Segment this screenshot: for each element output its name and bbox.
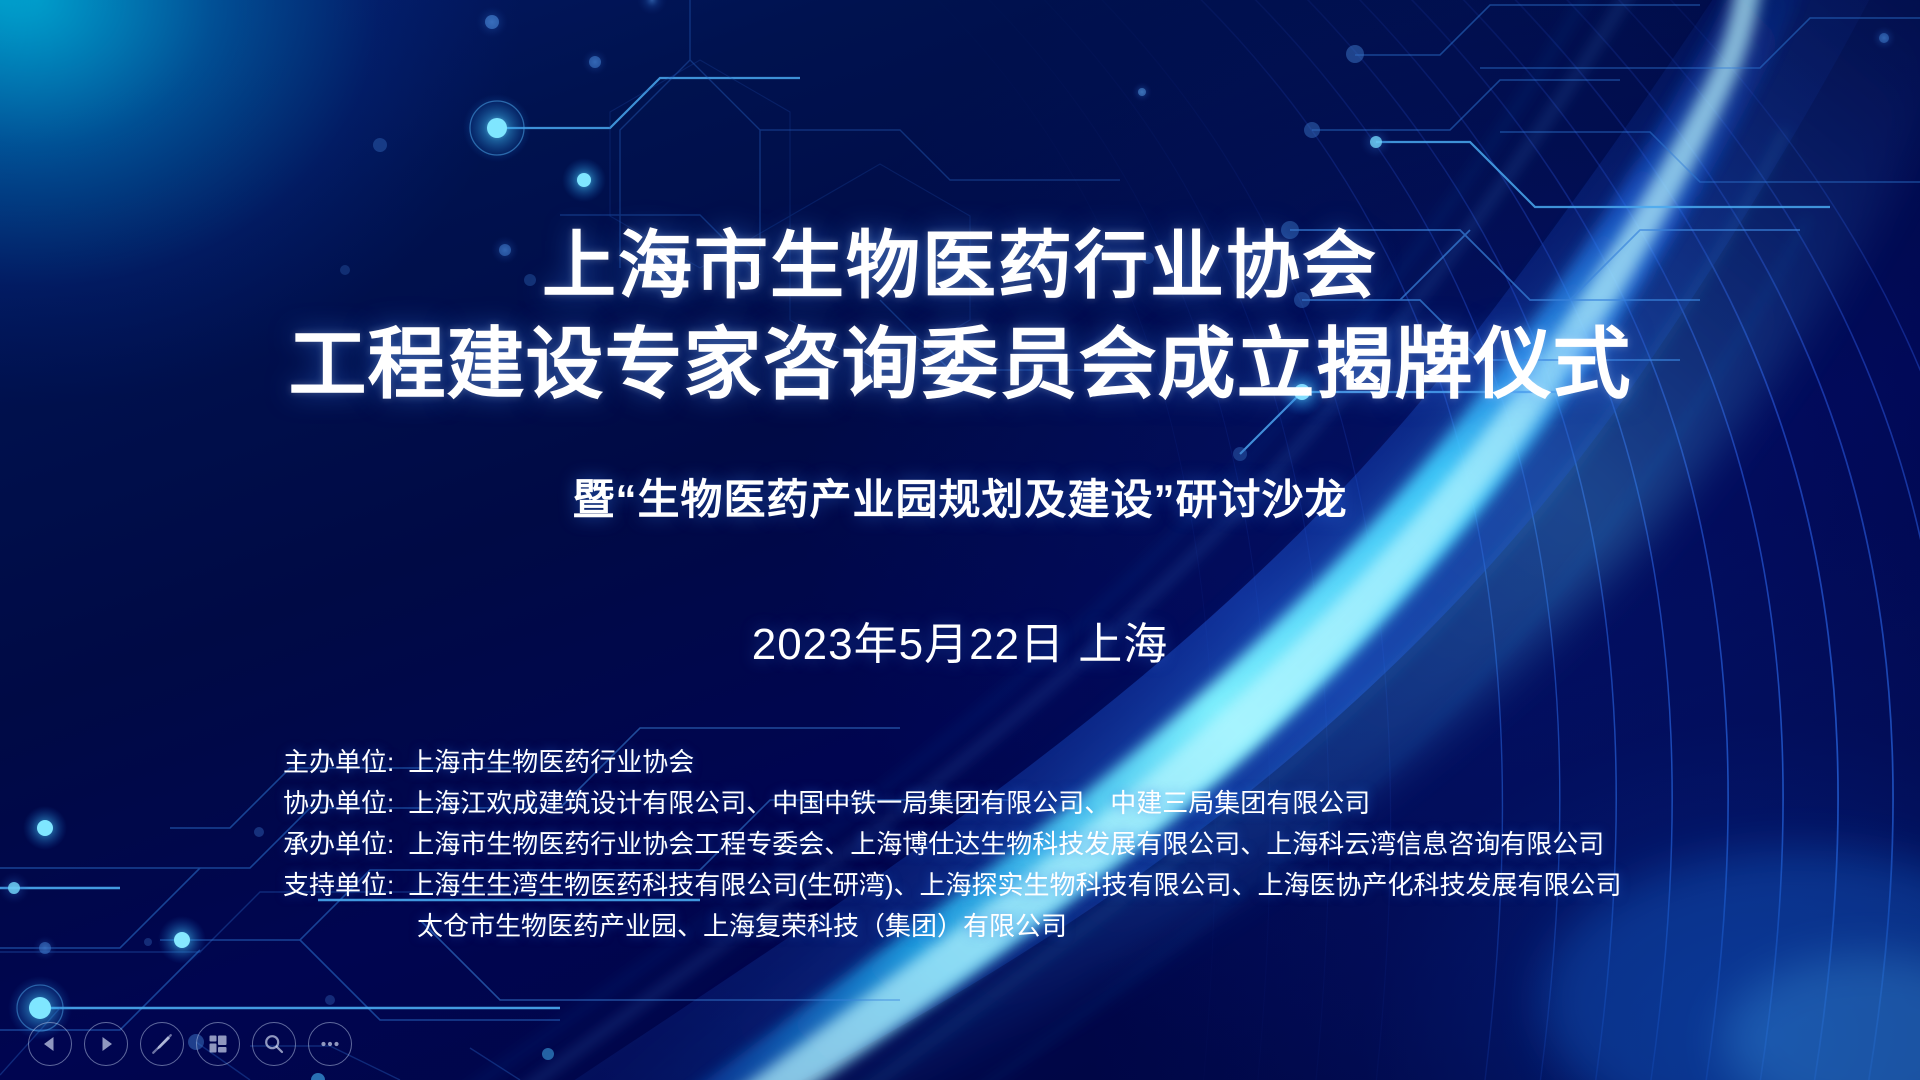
event-datetime-location: 2023年5月22日 上海: [0, 608, 1920, 672]
all-slides-button[interactable]: [196, 1022, 240, 1066]
slide-subtitle: 暨“生物医药产业园规划及建设”研讨沙龙: [0, 466, 1920, 527]
organizations-list: 主办单位:上海市生物医药行业协会 协办单位:上海江欢成建筑设计有限公司、中国中铁…: [283, 742, 1622, 947]
organization-value-host: 上海市生物医药行业协会: [408, 742, 694, 783]
organization-label-organizer: 承办单位:: [283, 824, 394, 865]
ellipsis-icon: [318, 1032, 342, 1056]
pen-icon: [150, 1032, 174, 1056]
organization-label-cohost: 协办单位:: [283, 783, 394, 824]
pen-tool-button[interactable]: [140, 1022, 184, 1066]
slide-title-block: 上海市生物医药行业协会 工程建设专家咨询委员会成立揭牌仪式: [0, 218, 1920, 416]
organization-row-organizer: 承办单位:上海市生物医药行业协会工程专委会、上海博仕达生物科技发展有限公司、上海…: [283, 824, 1622, 865]
grid-slides-icon: [206, 1032, 230, 1056]
organization-value-supporter: 上海生生湾生物医药科技有限公司(生研湾)、上海探实生物科技有限公司、上海医协产化…: [408, 865, 1621, 906]
organization-label-supporter: 支持单位:: [283, 865, 394, 906]
organization-value-organizer: 上海市生物医药行业协会工程专委会、上海博仕达生物科技发展有限公司、上海科云湾信息…: [408, 824, 1604, 865]
presentation-slide: 上海市生物医药行业协会 工程建设专家咨询委员会成立揭牌仪式 暨“生物医药产业园规…: [0, 0, 1920, 1080]
organization-row-cohost: 协办单位:上海江欢成建筑设计有限公司、中国中铁一局集团有限公司、中建三局集团有限…: [283, 783, 1622, 824]
triangle-right-icon: [95, 1033, 117, 1055]
organization-row-supporter-continued: 太仓市生物医药产业园、上海复荣科技（集团）有限公司: [283, 906, 1622, 947]
title-line-1: 上海市生物医药行业协会: [0, 218, 1920, 314]
triangle-left-icon: [39, 1033, 61, 1055]
zoom-button[interactable]: [252, 1022, 296, 1066]
magnifier-icon: [262, 1032, 286, 1056]
next-slide-button[interactable]: [84, 1022, 128, 1066]
more-options-button[interactable]: [308, 1022, 352, 1066]
organization-row-host: 主办单位:上海市生物医药行业协会: [283, 742, 1622, 783]
organization-row-supporter: 支持单位:上海生生湾生物医药科技有限公司(生研湾)、上海探实生物科技有限公司、上…: [283, 865, 1622, 906]
organization-label-host: 主办单位:: [283, 742, 394, 783]
organization-value-cohost: 上海江欢成建筑设计有限公司、中国中铁一局集团有限公司、中建三局集团有限公司: [408, 783, 1370, 824]
previous-slide-button[interactable]: [28, 1022, 72, 1066]
slideshow-toolbar: [28, 1022, 352, 1066]
title-line-2: 工程建设专家咨询委员会成立揭牌仪式: [0, 314, 1920, 415]
